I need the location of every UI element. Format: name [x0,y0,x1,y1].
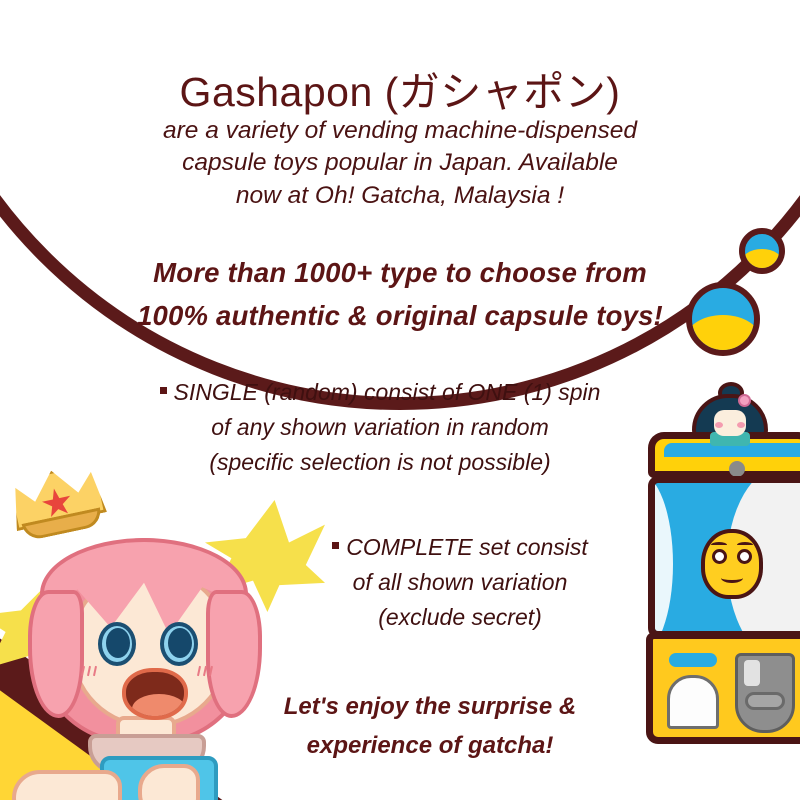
intro-line: now at Oh! Gatcha, Malaysia ! [0,180,800,212]
square-bullet-icon [160,387,167,394]
kokeshi-cheek-right [737,422,745,428]
bullet-single-block: SINGLE (random) consist of ONE (1) spin … [0,375,760,481]
girl-arm [12,770,122,800]
bullet-complete-text: COMPLETE set consist [346,534,588,560]
gashapon-promo-poster: Gashapon (ガシャポン) are a variety of vendin… [0,0,800,800]
girl-open-mouth [122,668,188,720]
girl-blush-left [80,666,102,676]
intro-line: capsule toys popular in Japan. Available [0,147,800,179]
girl-pupil-right [168,628,192,658]
headline-line: More than 1000+ type to choose from [0,252,800,295]
girl-pupil-left [106,628,130,658]
bullet-single-text: SINGLE (random) consist of ONE (1) spin [174,379,601,405]
poster-text-content: Gashapon (ガシャポン) are a variety of vendin… [0,0,800,800]
flower-icon [738,394,751,407]
bullet-single-line: of any shown variation in random [0,410,760,445]
square-bullet-icon [332,542,339,549]
page-title: Gashapon (ガシャポン) [0,58,800,118]
intro-paragraph: are a variety of vending machine-dispens… [0,115,800,212]
headline-line: 100% authentic & original capsule toys! [0,295,800,338]
girl-eye-left [98,622,136,666]
kokeshi-cheek-left [715,422,723,428]
bullet-single-line: (specific selection is not possible) [0,445,760,480]
girl-blush-right [196,666,218,676]
intro-line: are a variety of vending machine-dispens… [0,115,800,147]
girl-hand [138,764,200,800]
girl-eye-right [160,622,198,666]
kokeshi-face [714,410,746,436]
bullet-single-line: SINGLE (random) consist of ONE (1) spin [0,375,760,410]
headline-block: More than 1000+ type to choose from 100%… [0,252,800,337]
